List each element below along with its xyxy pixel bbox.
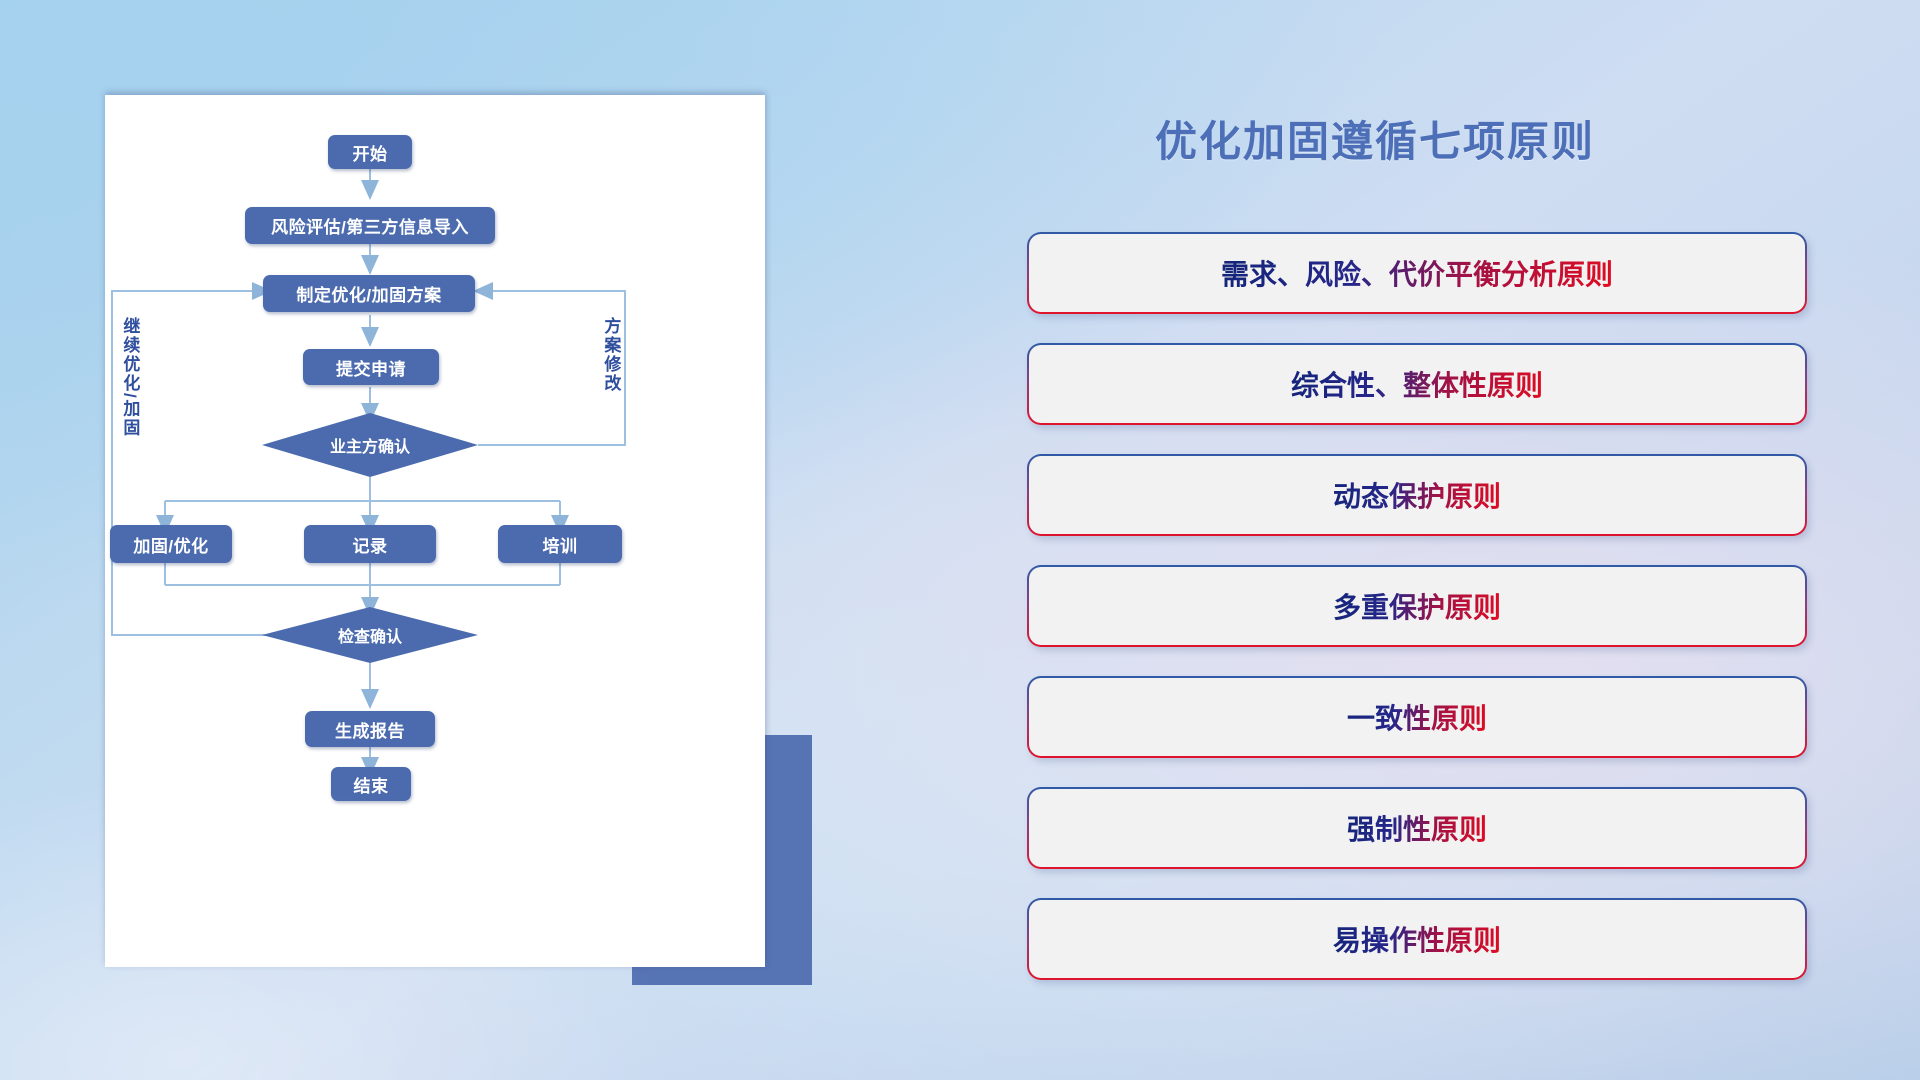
slide-background: 开始 风险评估/第三方信息导入 制定优化/加固方案 提交申请 业主方确认 加固/… bbox=[0, 0, 1920, 1080]
flow-node-reinforce[interactable]: 加固/优化 bbox=[110, 525, 232, 563]
flow-node-owner-confirm-label: 业主方确认 bbox=[262, 413, 478, 477]
flow-node-check-confirm-label: 检查确认 bbox=[262, 607, 478, 663]
flow-node-training-label: 培训 bbox=[543, 532, 578, 557]
flow-node-check-confirm[interactable]: 检查确认 bbox=[262, 607, 478, 663]
principle-item[interactable]: 需求、风险、代价平衡分析原则 bbox=[1027, 232, 1807, 314]
flow-node-owner-confirm[interactable]: 业主方确认 bbox=[262, 413, 478, 477]
principle-item-inner: 动态保护原则 bbox=[1029, 456, 1805, 534]
principle-item-inner: 易操作性原则 bbox=[1029, 900, 1805, 978]
principle-item-label: 动态保护原则 bbox=[1333, 475, 1501, 515]
flow-node-end[interactable]: 结束 bbox=[331, 767, 411, 801]
principle-item-label: 综合性、整体性原则 bbox=[1291, 364, 1543, 404]
principle-item-label: 多重保护原则 bbox=[1333, 586, 1501, 626]
principle-item[interactable]: 动态保护原则 bbox=[1027, 454, 1807, 536]
principle-item[interactable]: 一致性原则 bbox=[1027, 676, 1807, 758]
principles-list: 需求、风险、代价平衡分析原则 综合性、整体性原则 动态保护原则 多重保护原则 一… bbox=[1027, 232, 1807, 1009]
flowchart-card: 开始 风险评估/第三方信息导入 制定优化/加固方案 提交申请 业主方确认 加固/… bbox=[105, 95, 765, 967]
flow-node-reinforce-label: 加固/优化 bbox=[133, 532, 208, 557]
flow-node-plan-label: 制定优化/加固方案 bbox=[296, 281, 441, 306]
principle-item[interactable]: 多重保护原则 bbox=[1027, 565, 1807, 647]
principle-item-inner: 多重保护原则 bbox=[1029, 567, 1805, 645]
flow-node-plan[interactable]: 制定优化/加固方案 bbox=[263, 275, 475, 312]
flow-node-record-label: 记录 bbox=[353, 532, 388, 557]
principle-item-inner: 需求、风险、代价平衡分析原则 bbox=[1029, 234, 1805, 312]
page-title: 优化加固遵循七项原则 bbox=[1155, 108, 1595, 169]
flow-node-start-label: 开始 bbox=[353, 140, 388, 165]
principle-item-inner: 强制性原则 bbox=[1029, 789, 1805, 867]
principle-item-label: 易操作性原则 bbox=[1333, 919, 1501, 959]
flow-node-submit-label: 提交申请 bbox=[336, 355, 406, 380]
principle-item-inner: 综合性、整体性原则 bbox=[1029, 345, 1805, 423]
principle-item-label: 一致性原则 bbox=[1347, 697, 1487, 737]
flow-node-risk-assessment-label: 风险评估/第三方信息导入 bbox=[271, 213, 469, 238]
edge-label-continue-optimize: 继续优化/加固 bbox=[120, 317, 138, 457]
principle-item-label: 需求、风险、代价平衡分析原则 bbox=[1221, 253, 1613, 293]
flow-node-report[interactable]: 生成报告 bbox=[305, 711, 435, 747]
flow-node-report-label: 生成报告 bbox=[335, 717, 405, 742]
flow-node-training[interactable]: 培训 bbox=[498, 525, 622, 563]
principle-item-inner: 一致性原则 bbox=[1029, 678, 1805, 756]
flow-node-start[interactable]: 开始 bbox=[328, 135, 412, 169]
flow-node-submit[interactable]: 提交申请 bbox=[303, 349, 439, 385]
principle-item[interactable]: 综合性、整体性原则 bbox=[1027, 343, 1807, 425]
principle-item[interactable]: 强制性原则 bbox=[1027, 787, 1807, 869]
flowchart: 开始 风险评估/第三方信息导入 制定优化/加固方案 提交申请 业主方确认 加固/… bbox=[105, 95, 765, 967]
flow-node-record[interactable]: 记录 bbox=[304, 525, 436, 563]
principle-item[interactable]: 易操作性原则 bbox=[1027, 898, 1807, 980]
principle-item-label: 强制性原则 bbox=[1347, 808, 1487, 848]
flow-node-risk-assessment[interactable]: 风险评估/第三方信息导入 bbox=[245, 207, 495, 244]
flow-node-end-label: 结束 bbox=[354, 772, 389, 797]
edge-label-plan-revision: 方案修改 bbox=[601, 317, 619, 417]
